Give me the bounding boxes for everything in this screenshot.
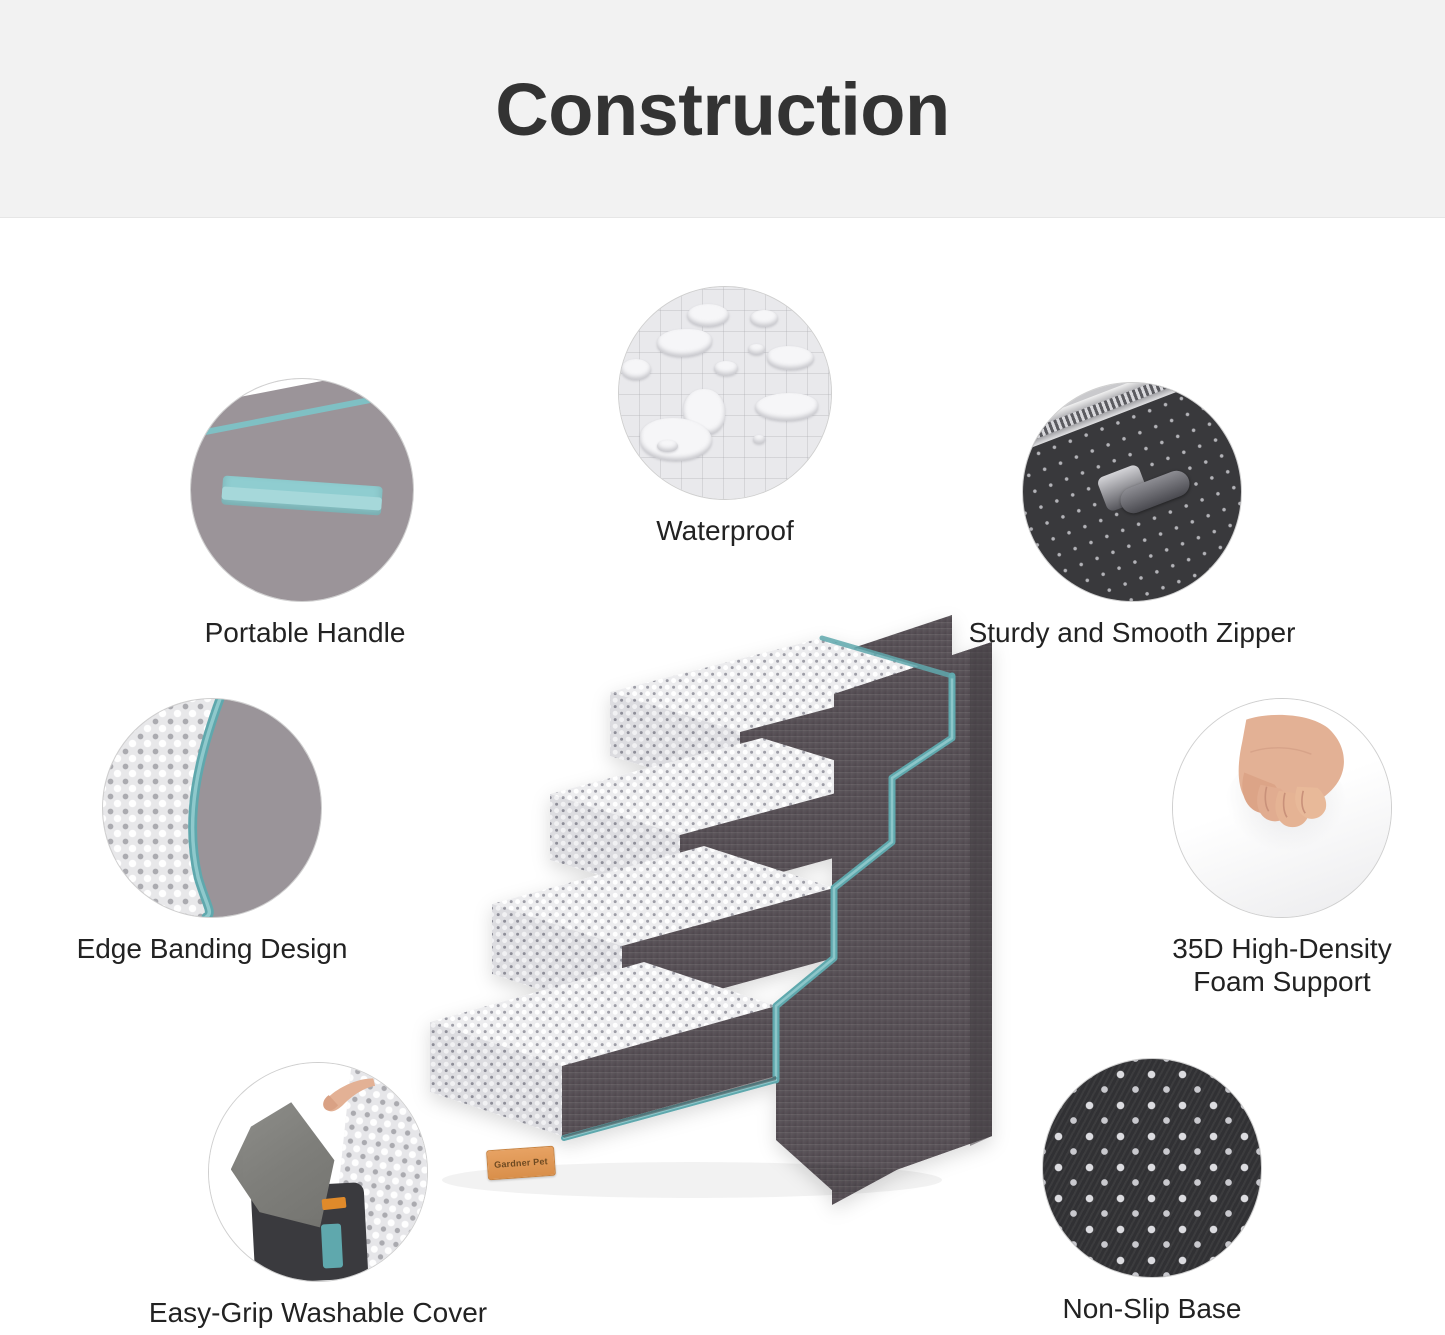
- feature-label-non-slip-base: Non-Slip Base: [997, 1292, 1307, 1325]
- foam-support-bubble: [1172, 698, 1392, 918]
- feature-label-washable-cover: Easy-Grip Washable Cover: [121, 1296, 515, 1329]
- teal-edge-piping-icon: [103, 699, 321, 917]
- header-divider: [0, 217, 1445, 218]
- portable-handle-bubble: [190, 378, 414, 602]
- feature-label-waterproof: Waterproof: [558, 514, 892, 547]
- feature-label-foam-support: 35D High-Density Foam Support: [1127, 932, 1437, 998]
- zipper-bubble: [1022, 382, 1242, 602]
- page-title: Construction: [495, 73, 949, 147]
- zipper-icon: [1023, 383, 1241, 601]
- product-image-pet-stairs: [352, 580, 1092, 1260]
- product-brand-tag: Gardner Pet: [486, 1146, 556, 1181]
- water-droplets-icon: [619, 287, 831, 499]
- feature-waterproof: Waterproof: [618, 286, 832, 547]
- hand-pressing-foam-icon: [1173, 699, 1391, 917]
- edge-banding-bubble: [102, 698, 322, 918]
- feature-edge-banding-design: Edge Banding Design: [102, 698, 322, 965]
- fabric-handle-strap-icon: [191, 379, 413, 601]
- feature-foam-support: 35D High-Density Foam Support: [1172, 698, 1392, 998]
- header-band: Construction: [0, 0, 1445, 218]
- brand-tag-label: Gardner Pet: [494, 1156, 548, 1170]
- infographic-page: Construction Portable Handle: [0, 0, 1445, 1335]
- feature-label-edge-banding: Edge Banding Design: [25, 932, 399, 965]
- waterproof-bubble: [618, 286, 832, 500]
